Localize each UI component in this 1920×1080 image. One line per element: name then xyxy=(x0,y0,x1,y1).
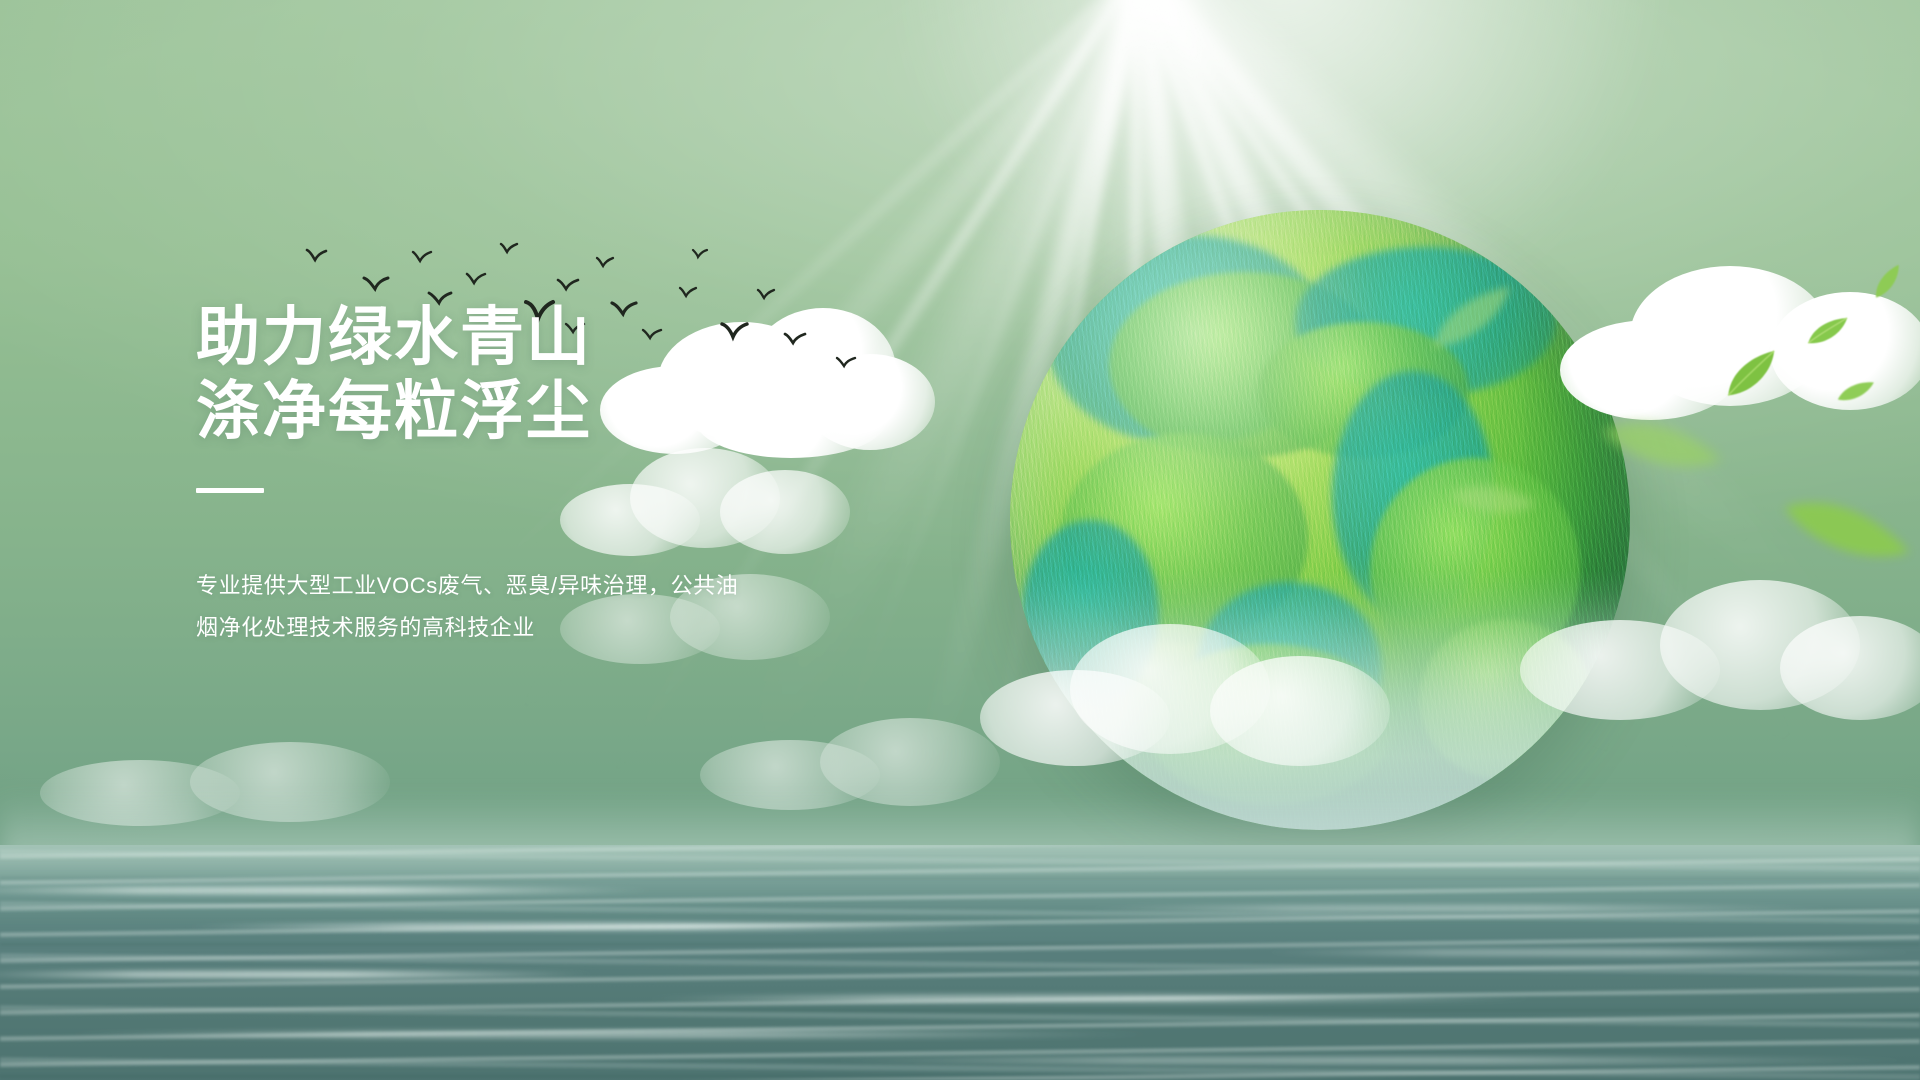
bird-icon xyxy=(557,278,579,293)
grass-earth-globe xyxy=(1010,210,1630,830)
water-surface xyxy=(0,845,1920,1080)
bird-icon xyxy=(363,275,389,293)
title-divider xyxy=(196,488,264,493)
bird-icon xyxy=(466,272,486,287)
bird-icon xyxy=(412,250,432,265)
headline-line-1: 助力绿水青山 xyxy=(196,300,956,374)
page-title: 助力绿水青山 涤净每粒浮尘 xyxy=(196,300,956,448)
globe-bottom-fade xyxy=(1010,210,1630,830)
bird-icon xyxy=(679,286,697,300)
headline-line-2: 涤净每粒浮尘 xyxy=(196,374,956,448)
bird-icon xyxy=(306,248,328,264)
bird-icon xyxy=(596,256,614,270)
bird-icon xyxy=(692,248,708,261)
banner-subtitle: 专业提供大型工业VOCs废气、恶臭/异味治理，公共油烟净化处理技术服务的高科技企… xyxy=(196,565,756,649)
hero-banner: 助力绿水青山 涤净每粒浮尘 专业提供大型工业VOCs废气、恶臭/异味治理，公共油… xyxy=(0,0,1920,1080)
bird-icon xyxy=(500,242,518,256)
banner-copy: 助力绿水青山 涤净每粒浮尘 专业提供大型工业VOCs废气、恶臭/异味治理，公共油… xyxy=(196,300,956,649)
